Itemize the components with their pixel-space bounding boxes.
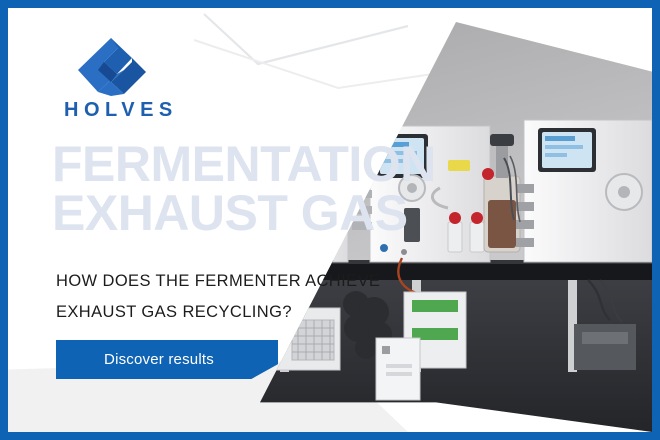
marketing-banner: HOLVES FERMENTATION EXHAUST GAS HOW DOES…: [0, 0, 660, 440]
discover-results-label: Discover results: [104, 351, 214, 368]
page-title: FERMENTATION EXHAUST GAS: [52, 140, 522, 238]
holves-diamond-h-logo-icon: [74, 36, 148, 98]
subheadline: HOW DOES THE FERMENTER ACHIEVE EXHAUST G…: [56, 266, 456, 327]
brand-logo[interactable]: HOLVES: [64, 36, 214, 120]
discover-results-button[interactable]: Discover results: [56, 340, 278, 379]
headline-line-1: FERMENTATION: [52, 140, 522, 189]
headline-line-2: EXHAUST GAS: [52, 189, 522, 238]
banner-canvas: HOLVES FERMENTATION EXHAUST GAS HOW DOES…: [8, 8, 652, 432]
brand-name: HOLVES: [64, 100, 214, 120]
subheadline-line-1: HOW DOES THE FERMENTER ACHIEVE: [56, 266, 456, 297]
subheadline-line-2: EXHAUST GAS RECYCLING?: [56, 297, 456, 328]
